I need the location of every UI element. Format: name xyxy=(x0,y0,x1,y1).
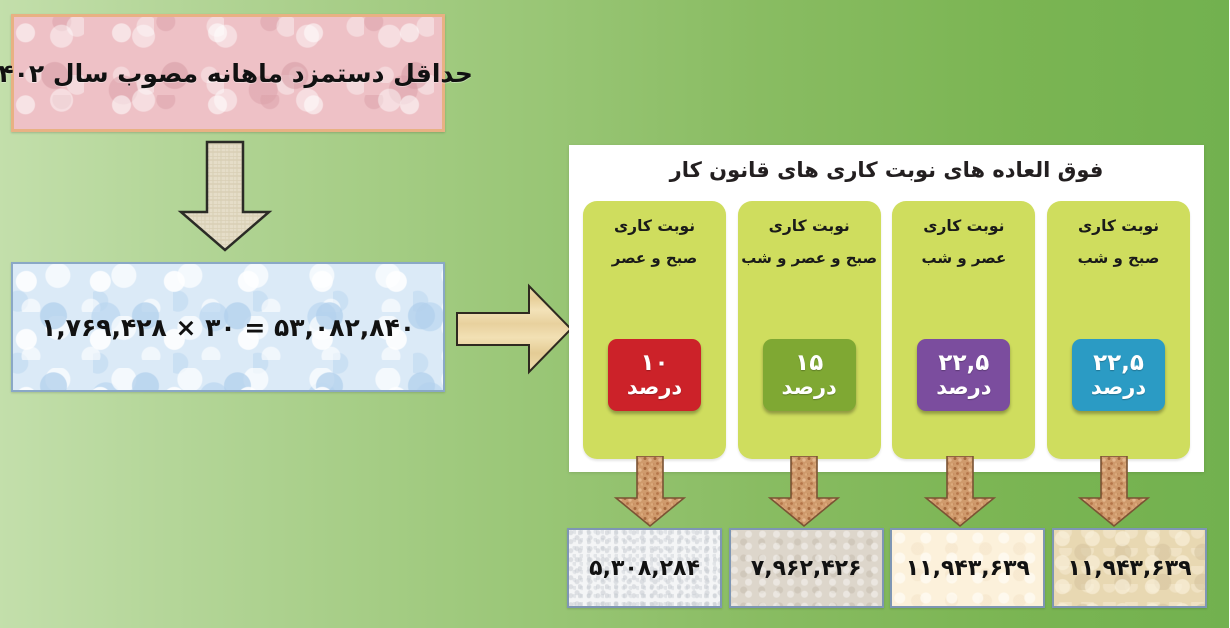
percent-value: ۲۲,۵ xyxy=(1094,351,1145,375)
shift-card-label-line2: صبح و عصر و شب xyxy=(742,249,878,267)
panel-title: فوق العاده های نوبت کاری های قانون کار xyxy=(570,145,1205,182)
arrow-down-icon xyxy=(768,456,842,528)
arrow-down-icon xyxy=(1078,456,1152,528)
result-box: ۷,۹۶۲,۴۲۶ xyxy=(730,528,885,608)
result-box: ۵,۳۰۸,۲۸۴ xyxy=(568,528,723,608)
percent-value: ۲۲,۵ xyxy=(939,351,990,375)
shift-card-label-line2: عصر و شب xyxy=(922,249,1007,267)
percent-badge-teal: ۲۲,۵ درصد xyxy=(1073,339,1166,411)
percent-badge-purple: ۲۲,۵ درصد xyxy=(918,339,1011,411)
monthly-wage-formula-text: ۱,۷۶۹,۴۲۸ × ۳۰ = ۵۳,۰۸۲,۸۴۰ xyxy=(42,313,416,342)
result-value: ۷,۹۶۲,۴۲۶ xyxy=(752,556,863,581)
shift-card-morning-afternoon-night[interactable]: نوبت کاری صبح و عصر و شب ۱۵ درصد xyxy=(739,201,882,459)
shift-card-afternoon-night[interactable]: نوبت کاری عصر و شب ۲۲,۵ درصد xyxy=(893,201,1036,459)
shift-card-label-line1: نوبت کاری xyxy=(924,217,1005,235)
shift-card-label-line1: نوبت کاری xyxy=(770,217,851,235)
percent-value: ۱۵ xyxy=(796,351,824,375)
percent-value: ۱۰ xyxy=(642,351,670,375)
percent-unit: درصد xyxy=(783,375,838,399)
arrow-down-icon xyxy=(178,140,274,252)
shift-card-morning-night[interactable]: نوبت کاری صبح و شب ۲۲,۵ درصد xyxy=(1048,201,1191,459)
arrow-down-icon xyxy=(924,456,998,528)
minimum-wage-title-box: حداقل دستمزد ماهانه مصوب سال ۱۴۰۲ xyxy=(12,14,446,132)
result-boxes-row: ۵,۳۰۸,۲۸۴ ۷,۹۶۲,۴۲۶ ۱۱,۹۴۳,۶۳۹ ۱۱,۹۴۳,۶۳… xyxy=(568,528,1208,608)
percent-badge-green: ۱۵ درصد xyxy=(764,339,857,411)
shift-card-morning-afternoon[interactable]: نوبت کاری صبح و عصر ۱۰ درصد xyxy=(584,201,727,459)
shift-cards-row: نوبت کاری صبح و عصر ۱۰ درصد نوبت کاری صب… xyxy=(584,201,1191,459)
percent-unit: درصد xyxy=(1092,375,1147,399)
shift-card-label-line2: صبح و شب xyxy=(1079,249,1161,267)
result-box: ۱۱,۹۴۳,۶۳۹ xyxy=(891,528,1046,608)
percent-unit: درصد xyxy=(937,375,992,399)
shift-card-label-line1: نوبت کاری xyxy=(1079,217,1160,235)
shift-card-label-line2: صبح و عصر xyxy=(613,249,699,267)
percent-badge-red: ۱۰ درصد xyxy=(609,339,702,411)
result-value: ۱۱,۹۴۳,۶۳۹ xyxy=(1068,556,1192,581)
shift-work-allowances-panel: فوق العاده های نوبت کاری های قانون کار ن… xyxy=(570,145,1205,472)
arrow-down-icon xyxy=(614,456,688,528)
result-box: ۱۱,۹۴۳,۶۳۹ xyxy=(1053,528,1208,608)
shift-card-label-line1: نوبت کاری xyxy=(615,217,696,235)
result-value: ۵,۳۰۸,۲۸۴ xyxy=(590,556,701,581)
result-value: ۱۱,۹۴۳,۶۳۹ xyxy=(907,556,1031,581)
arrow-right-icon xyxy=(456,283,574,375)
percent-unit: درصد xyxy=(628,375,683,399)
monthly-wage-formula-box: ۱,۷۶۹,۴۲۸ × ۳۰ = ۵۳,۰۸۲,۸۴۰ xyxy=(12,262,446,392)
minimum-wage-title-text: حداقل دستمزد ماهانه مصوب سال ۱۴۰۲ xyxy=(0,59,474,88)
